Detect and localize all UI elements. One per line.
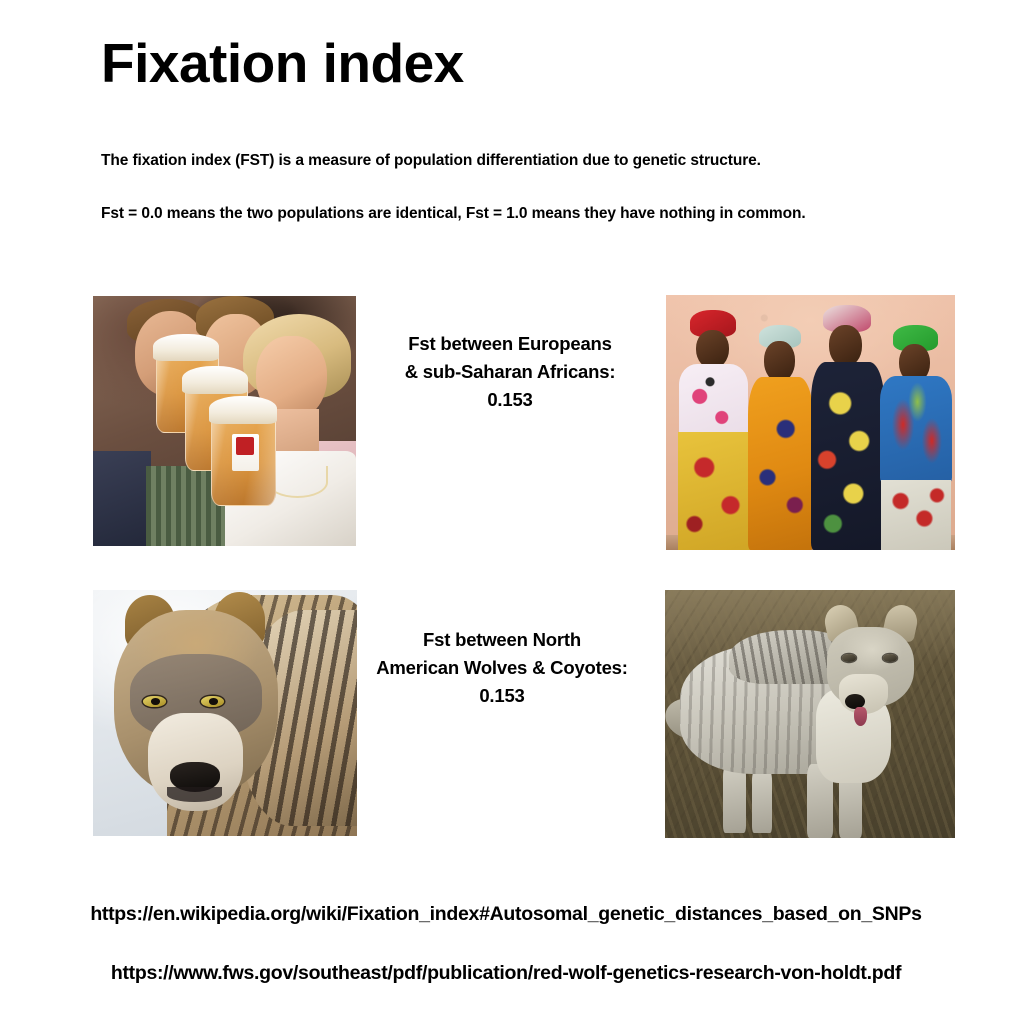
source-url-fws[interactable]: https://www.fws.gov/southeast/pdf/public… (0, 962, 1012, 985)
wolf-mouth (167, 787, 222, 802)
beer-foam-3 (209, 396, 277, 424)
page-title: Fixation index (101, 33, 464, 94)
face-3 (829, 325, 863, 367)
slide-canvas: Fixation index The fixation index (FST) … (0, 0, 1012, 1024)
beer-foam-1 (153, 334, 219, 362)
caption-humans: Fst between Europeans & sub-Saharan Afri… (364, 330, 656, 414)
source-url-wikipedia[interactable]: https://en.wikipedia.org/wiki/Fixation_i… (0, 903, 1012, 926)
photo-coyote (665, 590, 955, 838)
beer-foam-2 (182, 366, 248, 394)
dirndl-dark (93, 451, 151, 546)
wolf-pupil-left (151, 698, 160, 704)
coyote-eye-left (842, 654, 857, 661)
tunic-blue-red (880, 376, 952, 484)
woman-3 (811, 303, 886, 550)
coyote-leg-1 (723, 764, 746, 833)
caption-humans-value: 0.153 (364, 386, 656, 414)
caption-canids-line1: Fst between North (352, 626, 652, 654)
woman-1 (678, 305, 753, 550)
wolf-pupil-right (209, 698, 218, 704)
caption-canids-line2: American Wolves & Coyotes: (352, 654, 652, 682)
face-1 (696, 330, 729, 369)
woman-2 (747, 313, 816, 550)
photo-gray-wolf (93, 590, 357, 836)
photo-europeans-oktoberfest (93, 296, 356, 546)
coyote-tongue (854, 707, 867, 727)
photo-sub-saharan-african-women (666, 295, 955, 550)
coyote-leg-2 (752, 769, 772, 833)
skirt-floral-white (881, 480, 950, 550)
beer-mug-label-emblem (236, 437, 254, 455)
caption-canids: Fst between North American Wolves & Coyo… (352, 626, 652, 710)
caption-humans-line1: Fst between Europeans (364, 330, 656, 358)
skirt-yellow (678, 432, 753, 550)
face-2 (764, 341, 795, 381)
intro-line-definition: The fixation index (FST) is a measure of… (101, 152, 761, 170)
coyote-eye-right (883, 654, 898, 661)
caption-humans-line2: & sub-Saharan Africans: (364, 358, 656, 386)
caption-canids-value: 0.153 (352, 682, 652, 710)
dress-dark-floral (811, 362, 885, 550)
intro-line-scale: Fst = 0.0 means the two populations are … (101, 205, 806, 223)
woman-4 (880, 315, 952, 550)
dress-orange (748, 377, 813, 550)
